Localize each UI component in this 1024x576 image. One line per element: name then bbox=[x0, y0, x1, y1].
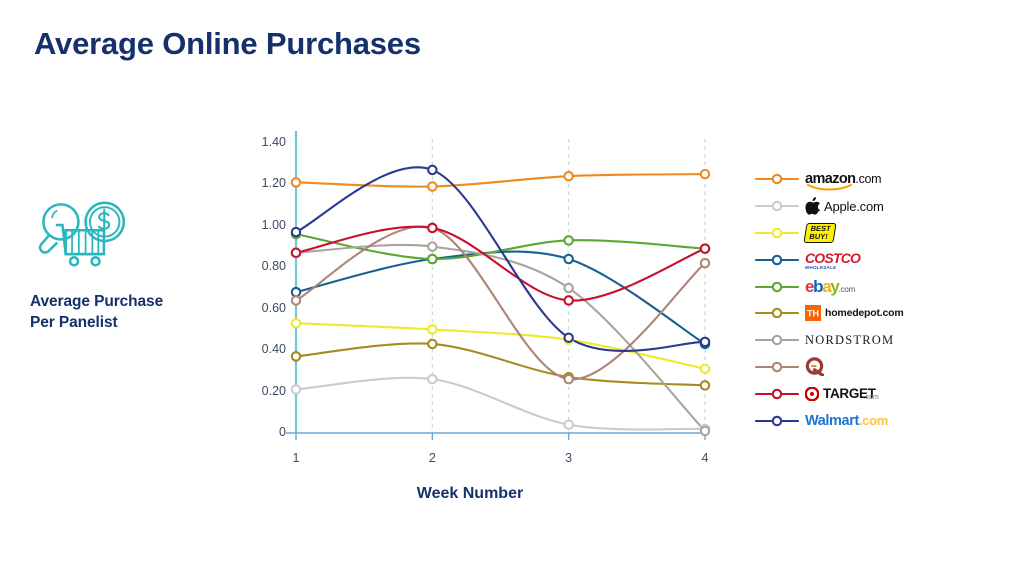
data-point-amazon bbox=[564, 172, 572, 180]
bestbuy-logo-icon: BESTBUY! bbox=[803, 223, 836, 243]
y-tick-label: 0.80 bbox=[250, 259, 286, 273]
legend-swatch-ebay bbox=[755, 280, 799, 294]
y-tick-label: 0.60 bbox=[250, 301, 286, 315]
data-point-ebay bbox=[428, 255, 436, 263]
line-chart: 1.401.201.000.800.600.400.200 1234 Week … bbox=[250, 125, 720, 520]
data-point-target bbox=[292, 249, 300, 257]
legend-brand-overstock bbox=[805, 357, 824, 377]
x-tick-label: 3 bbox=[549, 451, 589, 465]
legend-brand-target: TARGET.com bbox=[805, 384, 891, 404]
y-tick-label: 1.20 bbox=[250, 176, 286, 190]
data-point-overstock bbox=[701, 259, 709, 267]
series-line-nordstrom bbox=[296, 245, 705, 431]
x-tick-label: 2 bbox=[412, 451, 452, 465]
legend-label-homedepot: homedepot.com bbox=[825, 307, 904, 319]
legend-item-homedepot[interactable]: THhomedepot.com bbox=[755, 300, 1005, 327]
legend-label-amazon-suffix: .com bbox=[855, 172, 881, 186]
legend-label-ebay-b: b bbox=[813, 277, 822, 296]
y-tick-label: 0.20 bbox=[250, 384, 286, 398]
page-title: Average Online Purchases bbox=[34, 26, 421, 62]
data-point-walmart bbox=[564, 334, 572, 342]
side-caption-line2: Per Panelist bbox=[30, 313, 220, 334]
legend-label-apple: Apple.com bbox=[824, 199, 884, 214]
data-point-amazon bbox=[428, 182, 436, 190]
data-point-overstock bbox=[564, 375, 572, 383]
overstock-logo-icon bbox=[805, 357, 824, 376]
data-point-costco bbox=[292, 288, 300, 296]
data-point-nordstrom bbox=[701, 427, 709, 435]
legend-label-ebay-e: e bbox=[805, 277, 813, 296]
legend-item-amazon[interactable]: amazon.com bbox=[755, 166, 1005, 193]
legend-brand-ebay: ebay.com bbox=[805, 277, 855, 297]
legend-item-nordstrom[interactable]: NORDSTROM bbox=[755, 327, 1005, 354]
legend-swatch-apple bbox=[755, 199, 799, 213]
legend-item-walmart[interactable]: Walmart.com bbox=[755, 407, 1005, 434]
legend-item-ebay[interactable]: ebay.com bbox=[755, 273, 1005, 300]
legend-swatch-homedepot bbox=[755, 306, 799, 320]
side-panel-caption: Average Purchase Per Panelist bbox=[30, 292, 220, 334]
chart-legend: amazon.comApple.comBESTBUY!COSTCOWHOLESA… bbox=[755, 166, 1005, 434]
chart-plot-area bbox=[250, 125, 720, 485]
data-point-homedepot bbox=[701, 381, 709, 389]
data-point-walmart bbox=[428, 166, 436, 174]
data-point-walmart bbox=[292, 228, 300, 236]
svg-text:TH: TH bbox=[807, 309, 819, 319]
legend-swatch-overstock bbox=[755, 360, 799, 374]
y-tick-label: 0 bbox=[250, 425, 286, 439]
legend-label-target-suffix: .com bbox=[864, 394, 879, 401]
legend-label-ebay-y: y bbox=[830, 277, 838, 296]
legend-label-walmart-suffix: .com bbox=[859, 413, 888, 428]
legend-label-costco: COSTCO bbox=[805, 250, 860, 266]
legend-brand-walmart: Walmart.com bbox=[805, 411, 888, 431]
data-point-apple bbox=[564, 421, 572, 429]
y-tick-label: 1.00 bbox=[250, 218, 286, 232]
legend-item-bestbuy[interactable]: BESTBUY! bbox=[755, 220, 1005, 247]
legend-label-bestbuy-2: BUY! bbox=[809, 232, 830, 240]
side-caption-line1: Average Purchase bbox=[30, 292, 220, 313]
data-point-bestbuy bbox=[701, 365, 709, 373]
legend-brand-bestbuy: BESTBUY! bbox=[805, 223, 835, 243]
data-point-ebay bbox=[564, 236, 572, 244]
x-tick-label: 1 bbox=[276, 451, 316, 465]
data-point-target bbox=[701, 244, 709, 252]
y-tick-label: 0.40 bbox=[250, 342, 286, 356]
slide-canvas: Average Online Purchases bbox=[0, 0, 1024, 576]
magnifier-cart-coin-icon bbox=[36, 198, 132, 276]
apple-logo-icon bbox=[805, 197, 820, 215]
legend-item-target[interactable]: TARGET.com bbox=[755, 380, 1005, 407]
series-line-target bbox=[296, 227, 705, 301]
data-point-amazon bbox=[292, 178, 300, 186]
y-tick-label: 1.40 bbox=[250, 135, 286, 149]
legend-swatch-costco bbox=[755, 253, 799, 267]
x-tick-label: 4 bbox=[685, 451, 725, 465]
legend-swatch-nordstrom bbox=[755, 333, 799, 347]
legend-swatch-bestbuy bbox=[755, 226, 799, 240]
series-line-apple bbox=[296, 378, 705, 430]
axes bbox=[286, 131, 707, 440]
data-point-walmart bbox=[701, 338, 709, 346]
data-point-apple bbox=[292, 385, 300, 393]
legend-brand-homedepot: THhomedepot.com bbox=[805, 303, 904, 323]
series-lines bbox=[296, 167, 705, 431]
data-point-costco bbox=[564, 255, 572, 263]
ebay-logo-icon: ebay bbox=[805, 277, 839, 297]
data-point-homedepot bbox=[428, 340, 436, 348]
legend-brand-costco: COSTCOWHOLESALE bbox=[805, 250, 860, 270]
data-point-bestbuy bbox=[428, 325, 436, 333]
legend-item-costco[interactable]: COSTCOWHOLESALE bbox=[755, 246, 1005, 273]
costco-logo-icon: COSTCOWHOLESALE bbox=[805, 250, 860, 270]
data-point-amazon bbox=[701, 170, 709, 178]
legend-swatch-walmart bbox=[755, 414, 799, 428]
side-panel: Average Purchase Per Panelist bbox=[30, 198, 220, 334]
legend-label-walmart: Walmart bbox=[805, 413, 859, 429]
legend-label-ebay-suffix: .com bbox=[839, 285, 856, 294]
data-point-target bbox=[428, 224, 436, 232]
data-point-nordstrom bbox=[564, 284, 572, 292]
data-point-bestbuy bbox=[292, 319, 300, 327]
legend-brand-amazon: amazon.com bbox=[805, 169, 881, 189]
legend-swatch-amazon bbox=[755, 172, 799, 186]
target-bullseye-icon bbox=[805, 387, 819, 401]
amazon-smile-icon bbox=[807, 184, 853, 191]
x-axis-title: Week Number bbox=[250, 485, 690, 503]
homedepot-logo-icon: TH bbox=[805, 305, 821, 321]
legend-item-apple[interactable]: Apple.com bbox=[755, 193, 1005, 220]
data-point-nordstrom bbox=[428, 242, 436, 250]
legend-brand-nordstrom: NORDSTROM bbox=[805, 330, 894, 350]
legend-swatch-target bbox=[755, 387, 799, 401]
legend-item-overstock[interactable] bbox=[755, 354, 1005, 381]
legend-label-nordstrom: NORDSTROM bbox=[805, 333, 894, 348]
legend-brand-apple: Apple.com bbox=[805, 196, 884, 216]
data-point-apple bbox=[428, 375, 436, 383]
series-markers bbox=[292, 166, 709, 435]
series-line-amazon bbox=[296, 174, 705, 187]
data-point-target bbox=[564, 296, 572, 304]
data-point-homedepot bbox=[292, 352, 300, 360]
data-point-overstock bbox=[292, 296, 300, 304]
